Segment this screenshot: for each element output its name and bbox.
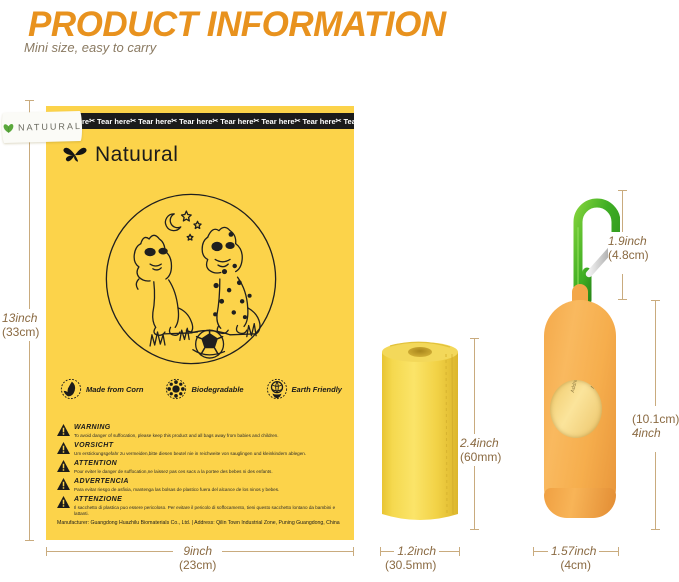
scissors-icon: ✂ xyxy=(336,118,342,125)
biodegradable-icon xyxy=(165,378,187,400)
eco-badge: Earth Friendly xyxy=(266,378,342,400)
warning-body: Para evitar riesgo de asfixia, mantenga … xyxy=(74,487,345,493)
dispenser-height-dimension-line xyxy=(655,300,656,406)
tear-here-item: ✂Tear here xyxy=(336,117,377,126)
corn-icon xyxy=(60,378,82,400)
eco-badge-label: Biodegradable xyxy=(191,385,243,394)
eco-badge-label: Made from Corn xyxy=(86,385,144,394)
carabiner-height-cm: (4.8cm) xyxy=(608,248,649,262)
eco-badge-label: Earth Friendly xyxy=(292,385,342,394)
warning-triangle-icon xyxy=(57,442,70,454)
scissors-icon: ✂ xyxy=(130,118,136,125)
warning-row: ATTENTION Pour eviter le danger de suffo… xyxy=(57,460,345,475)
roll-brand-name: NATUURAL xyxy=(18,121,82,133)
scissors-icon: ✂ xyxy=(295,118,301,125)
page-title: PRODUCT INFORMATION xyxy=(28,5,446,45)
dispenser-height-inch: 4inch xyxy=(632,426,679,440)
warning-body: Pour eviter le danger de suffocation,ne … xyxy=(74,469,345,475)
warning-title: ADVERTENCIA xyxy=(74,478,345,486)
scissors-icon: ✂ xyxy=(89,118,95,125)
bag-width-dimension-label: 9inch (23cm) xyxy=(173,544,222,572)
leaf-logo-icon xyxy=(2,122,15,134)
carabiner-height-dimension-cap-bottom xyxy=(618,299,627,300)
bag-width-dimension-cap-right xyxy=(353,547,354,556)
warning-title: ATTENTION xyxy=(74,460,345,468)
earth-globe-icon xyxy=(266,378,288,400)
dispenser-height-dimension-cap-top xyxy=(651,300,660,301)
roll-width-cm: (30.5mm) xyxy=(385,558,436,572)
warning-title: ATTENZIONE xyxy=(74,496,345,504)
bag-height-dimension-label: 13inch (33cm) xyxy=(1,309,40,341)
brand-name: Natuural xyxy=(95,143,178,167)
carabiner-height-inch: 1.9inch xyxy=(608,234,649,248)
dispenser-width-dimension-label: 1.57inch (4cm) xyxy=(548,544,599,572)
tear-here-label: Tear here xyxy=(138,117,171,126)
bag-width-dimension-cap-left xyxy=(46,547,47,556)
page-subtitle: Mini size, easy to carry xyxy=(24,40,156,55)
dispenser-height-dimension-line-lower xyxy=(655,452,656,530)
bag-width-inch: 9inch xyxy=(179,544,216,558)
tear-here-label: Tear here xyxy=(344,117,377,126)
roll-height-dimension-cap-top xyxy=(470,338,479,339)
eco-badge: Biodegradable xyxy=(165,378,243,400)
roll-width-dimension-cap-right xyxy=(459,547,460,556)
warning-body: To avoid danger of suffocation, please k… xyxy=(74,433,345,439)
tear-here-label: Tear here xyxy=(261,117,294,126)
carabiner-height-dimension-line-lower xyxy=(622,274,623,300)
roll-width-dimension-cap-left xyxy=(380,547,381,556)
roll-width-inch: 1.2inch xyxy=(397,544,436,558)
dispenser-width-inch: 1.57inch xyxy=(551,544,596,558)
warnings-block: WARNING To avoid danger of suffocation, … xyxy=(57,424,345,520)
dispenser-width-dimension-cap-right xyxy=(618,547,619,556)
bag-width-cm: (23cm) xyxy=(179,558,216,572)
bag-height-inch: 13inch xyxy=(2,311,39,325)
roll-height-dimension-cap-bottom xyxy=(470,529,479,530)
poop-bag-product-image: ✂Tear here ✂Tear here ✂Tear here ✂Tear h… xyxy=(46,106,354,540)
dispenser-width-cm: (4cm) xyxy=(555,558,596,572)
tear-here-item: ✂Tear here xyxy=(295,117,336,126)
dispenser-height-cm: (10.1cm) xyxy=(632,412,679,426)
bag-height-dimension-cap-top xyxy=(25,100,34,101)
dispenser-width-dimension-cap-left xyxy=(533,547,534,556)
eco-badge: Made from Corn xyxy=(60,378,144,400)
roll-height-dimension-label: 2.4inch (60mm) xyxy=(460,434,501,466)
warning-row: ATTENZIONE Il sacchetto di plastica puo … xyxy=(57,496,345,517)
tear-here-item: ✂Tear here xyxy=(89,117,130,126)
roll-brand-label: NATUURAL xyxy=(2,111,83,143)
dispenser-window-text-secondary: Address: Qilin T xyxy=(570,380,584,393)
two-dogs-illustration xyxy=(98,186,284,372)
tear-here-strip: ✂Tear here ✂Tear here ✂Tear here ✂Tear h… xyxy=(46,113,354,129)
warning-title: WARNING xyxy=(74,424,345,432)
tear-here-label: Tear here xyxy=(97,117,130,126)
dispenser-base-cap xyxy=(544,488,616,518)
manufacturer-info: Manufacturer: Guangdong Huazhilu Biomate… xyxy=(57,520,347,527)
tear-here-item: ✂Tear here xyxy=(171,117,212,126)
tear-here-item: ✂Tear here xyxy=(130,117,171,126)
warning-row: WARNING To avoid danger of suffocation, … xyxy=(57,424,345,439)
warning-body: Um erstickungsgefahr zu vermeiden,bitte … xyxy=(74,451,345,457)
dispenser-dispensing-window: A softfoam Address: Qilin T xyxy=(550,380,602,438)
dispenser-window-text-primary: A softfoam xyxy=(590,380,601,389)
scissors-icon: ✂ xyxy=(212,118,218,125)
warning-triangle-icon xyxy=(57,460,70,472)
dispenser-body: A softfoam Address: Qilin T xyxy=(544,300,616,518)
warning-triangle-icon xyxy=(57,478,70,490)
warning-triangle-icon xyxy=(57,496,70,508)
roll-height-cm: (60mm) xyxy=(460,450,501,464)
tear-here-label: Tear here xyxy=(179,117,212,126)
bag-height-dimension-cap-bottom xyxy=(25,540,34,541)
carabiner-height-dimension-line xyxy=(622,190,623,238)
scissors-icon: ✂ xyxy=(253,118,259,125)
roll-height-inch: 2.4inch xyxy=(460,436,501,450)
warning-row: ADVERTENCIA Para evitar riesgo de asfixi… xyxy=(57,478,345,493)
tear-here-item: ✂Tear here xyxy=(253,117,294,126)
warning-title: VORSICHT xyxy=(74,442,345,450)
brand-lockup: Natuural xyxy=(62,143,178,167)
scissors-icon: ✂ xyxy=(171,118,177,125)
tear-here-item: ✂Tear here xyxy=(212,117,253,126)
bag-height-cm: (33cm) xyxy=(2,325,39,339)
tear-here-label: Tear here xyxy=(220,117,253,126)
warning-triangle-icon xyxy=(57,424,70,436)
dispenser-height-dimension-cap-bottom xyxy=(651,529,660,530)
dispenser-height-dimension-label: (10.1cm) 4inch xyxy=(632,410,679,442)
roll-width-dimension-label: 1.2inch (30.5mm) xyxy=(394,544,439,572)
bag-roll-product-image xyxy=(378,338,462,528)
warning-body: Il sacchetto di plastica puo essere peri… xyxy=(74,505,345,517)
eco-badges-row: Made from Corn Biodegradable xyxy=(60,378,342,400)
tear-here-label: Tear here xyxy=(302,117,335,126)
carabiner-height-dimension-cap-top xyxy=(618,190,627,191)
carabiner-height-dimension-label: 1.9inch (4.8cm) xyxy=(608,232,649,264)
butterfly-leaf-icon xyxy=(62,144,88,166)
warning-row: VORSICHT Um erstickungsgefahr zu vermeid… xyxy=(57,442,345,457)
